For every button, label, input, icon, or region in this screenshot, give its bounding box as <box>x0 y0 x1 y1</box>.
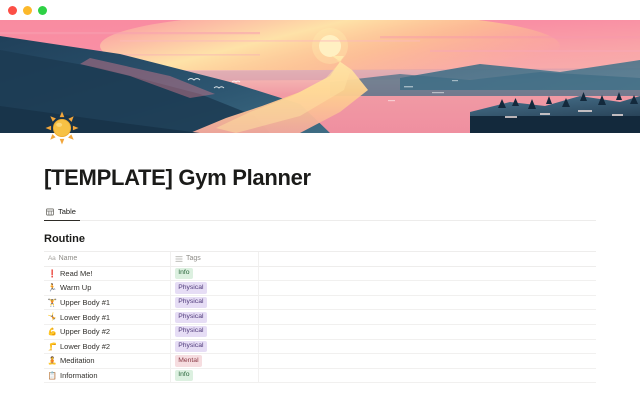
row-name-label: Read Me! <box>60 269 93 278</box>
clipboard-emoji: 📋 <box>48 371 57 380</box>
row-empty-cell[interactable] <box>259 325 596 339</box>
status-badge: Physical <box>175 341 207 352</box>
row-tags-cell[interactable]: Info <box>171 267 259 281</box>
table-row[interactable]: 🦵 Lower Body #2 Physical <box>44 340 596 355</box>
column-header-name-label: Name <box>59 255 78 262</box>
row-name-cell[interactable]: 🧘 Meditation <box>44 354 171 368</box>
table-row[interactable]: 📋 Information Info <box>44 369 596 384</box>
row-empty-cell[interactable] <box>259 267 596 281</box>
minimize-button[interactable] <box>23 6 32 15</box>
runner-emoji: 🏃 <box>48 283 57 292</box>
table-row[interactable]: 🏋️ Upper Body #1 Physical <box>44 296 596 311</box>
row-empty-cell[interactable] <box>259 310 596 324</box>
table-body: ❗ Read Me! Info 🏃 Warm Up Physical <box>44 267 596 384</box>
row-empty-cell[interactable] <box>259 281 596 295</box>
row-name-cell[interactable]: 🏃 Warm Up <box>44 281 171 295</box>
row-name-label: Lower Body #2 <box>60 342 110 351</box>
row-name-cell[interactable]: 🦵 Lower Body #2 <box>44 340 171 354</box>
row-name-cell[interactable]: 💪 Upper Body #2 <box>44 325 171 339</box>
tab-table-label: Table <box>58 207 76 216</box>
row-empty-cell[interactable] <box>259 296 596 310</box>
status-badge: Info <box>175 370 193 381</box>
sun-icon[interactable] <box>42 108 82 148</box>
row-empty-cell[interactable] <box>259 354 596 368</box>
status-badge: Mental <box>175 355 202 366</box>
row-name-cell[interactable]: ❗ Read Me! <box>44 267 171 281</box>
meditation-emoji: 🧘 <box>48 356 57 365</box>
flexed-bicep-emoji: 💪 <box>48 327 57 336</box>
status-badge: Physical <box>175 282 207 293</box>
row-tags-cell[interactable]: Mental <box>171 354 259 368</box>
table-header-row: Aa Name <box>44 252 596 267</box>
status-badge: Info <box>175 268 193 279</box>
row-empty-cell[interactable] <box>259 369 596 383</box>
view-tabs: Table <box>44 207 596 221</box>
column-header-name[interactable]: Aa Name <box>44 252 171 266</box>
row-name-label: Information <box>60 371 98 380</box>
row-tags-cell[interactable]: Physical <box>171 296 259 310</box>
row-name-cell[interactable]: 🤸 Lower Body #1 <box>44 310 171 324</box>
row-name-label: Meditation <box>60 356 95 365</box>
app-window: [TEMPLATE] Gym Planner Table Routine <box>0 0 640 400</box>
maximize-button[interactable] <box>38 6 47 15</box>
routine-table: Aa Name <box>44 251 596 383</box>
row-name-label: Warm Up <box>60 283 91 292</box>
row-tags-cell[interactable]: Physical <box>171 340 259 354</box>
row-name-label: Upper Body #2 <box>60 327 110 336</box>
row-name-label: Upper Body #1 <box>60 298 110 307</box>
table-row[interactable]: 💪 Upper Body #2 Physical <box>44 325 596 340</box>
cartwheel-emoji: 🤸 <box>48 313 57 322</box>
row-tags-cell[interactable]: Physical <box>171 281 259 295</box>
database-title[interactable]: Routine <box>44 233 596 245</box>
row-empty-cell[interactable] <box>259 340 596 354</box>
table-row[interactable]: 🧘 Meditation Mental <box>44 354 596 369</box>
row-name-label: Lower Body #1 <box>60 313 110 322</box>
leg-emoji: 🦵 <box>48 342 57 351</box>
tab-table[interactable]: Table <box>44 207 80 221</box>
status-badge: Physical <box>175 312 207 323</box>
column-header-tags[interactable]: Tags <box>171 252 259 266</box>
page-content: [TEMPLATE] Gym Planner Table Routine <box>0 133 640 400</box>
row-name-cell[interactable]: 📋 Information <box>44 369 171 383</box>
column-header-tags-label: Tags <box>186 255 201 262</box>
row-tags-cell[interactable]: Physical <box>171 325 259 339</box>
exclamation-emoji: ❗ <box>48 269 57 278</box>
table-icon <box>46 208 54 216</box>
weightlifter-emoji: 🏋️ <box>48 298 57 307</box>
row-name-cell[interactable]: 🏋️ Upper Body #1 <box>44 296 171 310</box>
status-badge: Physical <box>175 326 207 337</box>
multi-select-icon <box>175 255 183 263</box>
window-titlebar <box>0 0 640 20</box>
table-row[interactable]: 🏃 Warm Up Physical <box>44 281 596 296</box>
table-row[interactable]: ❗ Read Me! Info <box>44 267 596 282</box>
close-button[interactable] <box>8 6 17 15</box>
column-header-empty[interactable] <box>259 252 596 266</box>
status-badge: Physical <box>175 297 207 308</box>
page-title[interactable]: [TEMPLATE] Gym Planner <box>44 165 596 191</box>
page-cover-image[interactable] <box>0 20 640 133</box>
table-row[interactable]: 🤸 Lower Body #1 Physical <box>44 310 596 325</box>
row-tags-cell[interactable]: Physical <box>171 310 259 324</box>
row-tags-cell[interactable]: Info <box>171 369 259 383</box>
